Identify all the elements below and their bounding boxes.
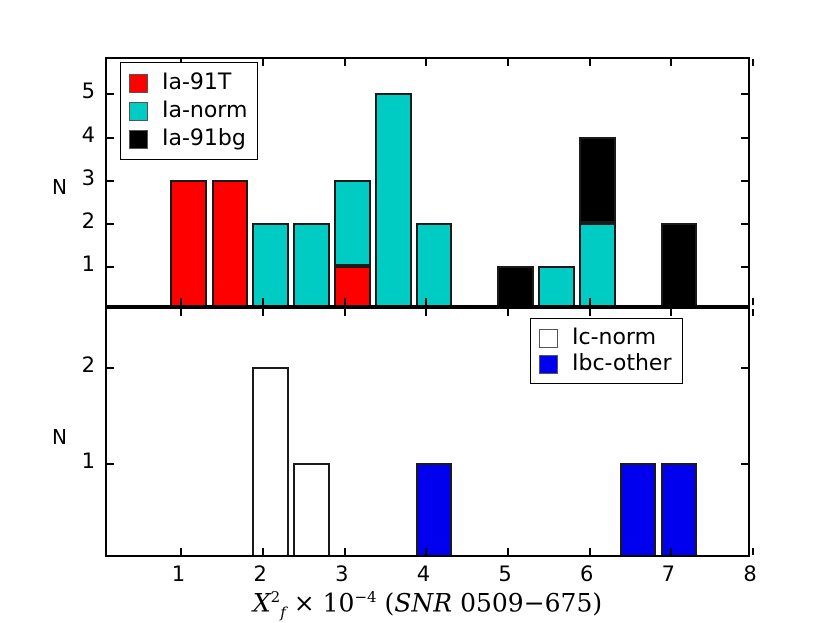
x-tick-mark bbox=[180, 298, 182, 305]
x-axis-symbol: X bbox=[253, 588, 271, 617]
legend-item-ia-norm[interactable]: Ia-norm bbox=[129, 97, 247, 125]
x-tick-mark bbox=[344, 548, 346, 555]
x-tick-mark bbox=[262, 298, 264, 305]
legend-item-ia-91t[interactable]: Ia-91T bbox=[129, 69, 247, 97]
legend-item-ic-norm[interactable]: Ic-norm bbox=[539, 325, 672, 351]
x-tick-mark-top bbox=[589, 59, 591, 66]
x-tick-label: 5 bbox=[498, 562, 511, 586]
y-tick-mark bbox=[107, 367, 114, 369]
x-tick-mark bbox=[425, 298, 427, 305]
y-tick-mark bbox=[107, 223, 114, 225]
legend-label-ia-91t: Ia-91T bbox=[162, 72, 231, 94]
histogram-bar-segment-ia-norm bbox=[375, 93, 412, 305]
x-tick-mark-top bbox=[589, 309, 591, 316]
x-tick-label: 8 bbox=[743, 562, 756, 586]
x-tick-mark bbox=[180, 548, 182, 555]
x-tick-mark bbox=[507, 548, 509, 555]
legend-item-ia-91bg[interactable]: Ia-91bg bbox=[129, 125, 247, 153]
x-tick-mark-top bbox=[262, 309, 264, 316]
top-panel-y-axis-label: N bbox=[52, 175, 67, 199]
y-tick-mark bbox=[107, 266, 114, 268]
x-tick-mark bbox=[589, 298, 591, 305]
y-tick-mark-right bbox=[741, 180, 748, 182]
x-tick-label: 3 bbox=[335, 562, 348, 586]
x-axis-ten: 10 bbox=[323, 588, 355, 617]
histogram-bar-segment-ia-norm bbox=[334, 180, 371, 266]
x-tick-mark bbox=[507, 298, 509, 305]
x-tick-mark-top bbox=[425, 59, 427, 66]
top-panel-y-tick-labels: 12345 bbox=[0, 57, 95, 307]
y-tick-mark bbox=[107, 93, 114, 95]
x-tick-label: 2 bbox=[253, 562, 266, 586]
y-tick-mark bbox=[107, 137, 114, 139]
histogram-bar-segment-ia-91t bbox=[170, 180, 207, 305]
x-tick-mark-top bbox=[344, 309, 346, 316]
legend-label-ia-91bg: Ia-91bg bbox=[162, 128, 246, 150]
y-tick-mark-right bbox=[741, 137, 748, 139]
y-tick-label: 4 bbox=[82, 123, 95, 147]
x-tick-mark-top bbox=[344, 59, 346, 66]
x-tick-mark bbox=[752, 298, 754, 305]
histogram-bar-segment-ia-norm bbox=[293, 223, 330, 305]
x-tick-label: 1 bbox=[172, 562, 185, 586]
x-axis-times: × bbox=[294, 588, 315, 617]
x-tick-mark bbox=[344, 298, 346, 305]
x-tick-mark-top bbox=[752, 59, 754, 66]
x-tick-mark-top bbox=[752, 309, 754, 316]
legend-swatch-ia-91bg bbox=[129, 130, 148, 149]
x-tick-mark-top bbox=[180, 309, 182, 316]
x-tick-mark bbox=[589, 548, 591, 555]
y-tick-mark bbox=[107, 180, 114, 182]
x-tick-mark bbox=[670, 298, 672, 305]
x-tick-mark-top bbox=[507, 59, 509, 66]
histogram-bar-segment-ibc-other bbox=[416, 463, 453, 555]
x-tick-label: 4 bbox=[417, 562, 430, 586]
legend-label-ibc-other: Ibc-other bbox=[572, 353, 672, 375]
bottom-panel-y-axis-label: N bbox=[52, 425, 67, 449]
histogram-bar-segment-ia-91t bbox=[334, 266, 371, 305]
x-axis-paren-open: ( bbox=[385, 588, 395, 617]
x-tick-label: 7 bbox=[662, 562, 675, 586]
x-tick-label: 6 bbox=[580, 562, 593, 586]
histogram-bar-segment-ia-norm bbox=[416, 223, 453, 305]
legend-swatch-ia-norm bbox=[129, 102, 148, 121]
x-tick-mark bbox=[425, 548, 427, 555]
histogram-bar-segment-ia-norm bbox=[538, 266, 575, 305]
legend-label-ic-norm: Ic-norm bbox=[572, 327, 656, 349]
x-axis-exponent: −4 bbox=[354, 588, 376, 606]
legend-swatch-ic-norm bbox=[539, 329, 558, 348]
x-tick-mark bbox=[752, 548, 754, 555]
x-axis-subscript: f bbox=[280, 603, 286, 621]
y-tick-mark-right bbox=[741, 266, 748, 268]
y-tick-label: 3 bbox=[82, 166, 95, 190]
x-axis-superscript: 2 bbox=[271, 588, 281, 606]
bottom-panel-legend: Ic-norm Ibc-other bbox=[530, 318, 683, 384]
y-tick-label: 5 bbox=[82, 79, 95, 103]
y-tick-label: 2 bbox=[82, 209, 95, 233]
figure-canvas: 12345 N Ia-91T Ia-norm Ia-91bg 12 N Ic-n… bbox=[0, 0, 830, 623]
y-tick-mark-right bbox=[741, 367, 748, 369]
x-axis-paren-close: ) bbox=[592, 588, 602, 617]
histogram-bar-segment-ic-norm bbox=[293, 463, 330, 555]
y-tick-label: 1 bbox=[82, 449, 95, 473]
legend-swatch-ia-91t bbox=[129, 74, 148, 93]
x-tick-mark bbox=[670, 548, 672, 555]
x-tick-mark-top bbox=[262, 59, 264, 66]
histogram-bar-segment-ibc-other bbox=[620, 463, 657, 555]
x-axis-title: X2f × 10−4 (SNR 0509−675) bbox=[105, 588, 750, 621]
histogram-bar-segment-ia-norm bbox=[579, 223, 616, 305]
y-tick-mark bbox=[107, 463, 114, 465]
y-tick-mark-right bbox=[741, 93, 748, 95]
histogram-bar-segment-ia-91bg bbox=[661, 223, 698, 305]
legend-item-ibc-other[interactable]: Ibc-other bbox=[539, 351, 672, 377]
y-tick-label: 1 bbox=[82, 252, 95, 276]
x-tick-mark-top bbox=[425, 309, 427, 316]
y-tick-mark-right bbox=[741, 463, 748, 465]
histogram-bar-segment-ia-91t bbox=[212, 180, 249, 305]
x-tick-mark-top bbox=[670, 309, 672, 316]
histogram-bar-segment-ia-norm bbox=[252, 223, 289, 305]
x-axis-source-id: 0509−675 bbox=[460, 588, 592, 617]
legend-swatch-ibc-other bbox=[539, 355, 558, 374]
histogram-bar-segment-ia-91bg bbox=[579, 137, 616, 223]
legend-label-ia-norm: Ia-norm bbox=[162, 100, 247, 122]
x-axis-source: SNR bbox=[394, 588, 452, 617]
histogram-bar-segment-ia-91bg bbox=[497, 266, 534, 305]
x-tick-mark-top bbox=[670, 59, 672, 66]
histogram-bar-segment-ic-norm bbox=[252, 367, 289, 555]
top-panel-legend: Ia-91T Ia-norm Ia-91bg bbox=[120, 62, 258, 160]
y-tick-mark-right bbox=[741, 223, 748, 225]
x-tick-mark bbox=[262, 548, 264, 555]
bottom-panel-y-tick-labels: 12 bbox=[0, 307, 95, 557]
histogram-bar-segment-ibc-other bbox=[661, 463, 698, 555]
y-tick-label: 2 bbox=[82, 353, 95, 377]
x-tick-mark-top bbox=[507, 309, 509, 316]
